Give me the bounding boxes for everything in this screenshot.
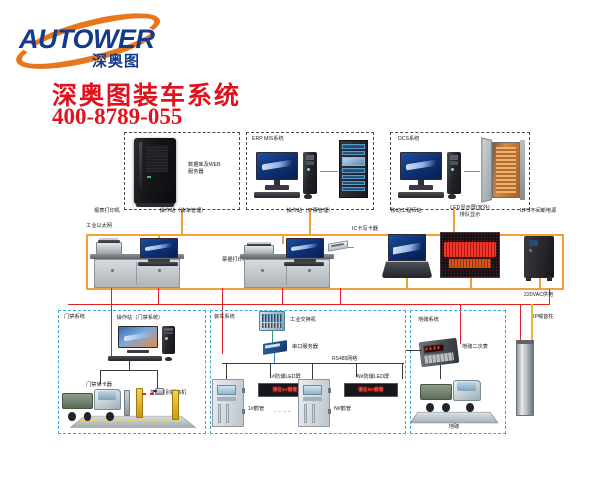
rs485-drop-2 [312,363,313,379]
label-report-printer: 报表打印机 [94,208,120,215]
bus-drop-led [470,278,472,289]
rs485-drop-3 [402,363,403,379]
weighbridge-indicator [419,338,460,367]
label-industrial-switch: 工业交换机 [290,317,316,324]
outdoor-led-board [440,232,500,278]
power-drop-3 [222,288,223,305]
access-card-reader [124,390,130,416]
label-220vac: 220VAC供电 [524,292,553,299]
label-operator-console-loading: 操作站（装车管理） [160,208,207,215]
bus-drop-console-2 [282,234,284,244]
ethernet-bus-left-riser [86,234,88,289]
rs485-trunk [222,363,404,364]
dcs-mouse [448,194,456,199]
serial-server-downlink [274,353,275,363]
label-outdoor-led-l1: LED显示屏(室外) [450,205,489,211]
industrial-switch [259,311,285,331]
label-loading-arm-1: 1#鹤管 [248,406,264,413]
power-drop-speaker [520,304,521,342]
logo-chinese-name: 深奥图 [92,50,140,71]
system-architecture-diagram: 数据库及WEB 服务器 ERP MIS系统 DCS系统 工业以太网 [0,118,600,448]
access-keyboard [108,356,162,361]
access-monitor [118,326,158,353]
autower-logo: AUTOWER 深奥图 [14,18,174,66]
console-keyboard-loading [138,262,178,266]
explosion-proof-led-n: 请在N#鹤管 [344,383,398,397]
led-n-text: 请在N#鹤管 [358,387,384,393]
mobile-engineer-laptop [384,234,430,278]
loading-arm-n [298,379,330,427]
power-drop-4 [282,288,283,305]
label-loading-system: 装车系统 [214,314,235,321]
power-drop-1 [111,288,112,305]
ups-bus-drop [539,278,541,289]
label-weighbridge-indicator: 地磅二次表 [462,344,488,351]
dcs-cabinet-link [464,171,480,172]
label-ups: UPS不间断电源 [520,208,557,215]
label-led-n: N#防爆LED屏 [357,374,389,381]
weighbridge-truck [420,379,482,413]
lpr-camera [155,388,164,395]
label-led-1: 1#防爆LED屏 [269,374,300,381]
weighbridge-platform [409,412,498,423]
label-dcs: DCS系统 [398,136,419,143]
ic-card-writer [328,240,348,252]
label-db-web-server: 数据库及WEB 服务器 [188,162,221,175]
loading-arm-1 [212,379,244,427]
label-outdoor-led-l2: 排队显示 [460,212,481,218]
label-operator-console-access: 操作站（门禁系统） [117,315,164,322]
label-ip-speaker: IP喊音柱 [533,314,553,321]
access-drop-camera [157,370,158,388]
label-industrial-ethernet: 工业以太网 [86,223,112,230]
rs485-drop-1 [226,363,227,379]
speaker-signal-line [531,304,533,342]
erp-pc-tower [303,152,317,194]
power-drop-5 [340,288,341,305]
label-outdoor-led-board: LED显示屏(室外) 排队显示 [450,205,489,219]
label-db-web-server-l1: 数据库及WEB [188,162,221,168]
label-db-web-server-l2: 服务器 [188,169,204,175]
label-loading-arm-n: N#鹤管 [334,406,351,413]
ethernet-bus-right-riser [562,234,564,289]
label-erp-mis: ERP MIS系统 [252,136,284,143]
power-drop-2 [158,288,159,305]
erp-mouse [304,194,312,199]
dcs-monitor [400,152,442,190]
label-serial-server: 串口服务器 [292,344,318,351]
dcs-pc-tower [447,152,461,194]
label-mobile-engineer-station: 移动工程师站 [390,208,421,215]
label-weighbridge: 地磅 [449,424,459,431]
access-trunk-riser [129,361,130,371]
label-rs485: RS485网络 [332,355,357,362]
power-bus-220vac [68,304,550,305]
label-weighbridge-system: 地磅系统 [418,317,439,324]
ip-speaker-column [516,342,534,416]
led-1-text: 请在1#鹤管 [273,387,298,393]
dcs-keyboard [398,192,444,198]
indicator-downlink [440,365,441,379]
dcs-control-cabinet [481,140,525,200]
access-mouse [165,357,172,361]
gate-barrier-left [136,388,143,418]
ups-unit [524,236,554,278]
erp-keyboard [254,192,300,198]
access-truck [62,388,122,422]
label-access-system: 门禁系统 [64,314,85,321]
label-ic-card-writer: IC卡写卡器 [352,226,378,233]
erp-server-rack [339,140,368,198]
ic-writer-link [348,247,354,248]
gate-barrier-right [172,390,179,420]
indicator-to-switch-link [406,350,422,351]
ellipsis-separator: ‥‥‥‥ [274,408,292,414]
console-monitor-loading [140,238,178,262]
console-monitor-invoicing [286,238,324,262]
access-pc-tower [162,326,175,354]
label-operator-console-invoicing: 操作站（开票管理） [287,208,334,215]
tower-server [134,138,176,204]
erp-rack-link [320,171,338,172]
bus-drop-laptop [406,278,408,289]
erp-monitor [256,152,298,190]
console-keyboard-invoicing [284,262,324,266]
